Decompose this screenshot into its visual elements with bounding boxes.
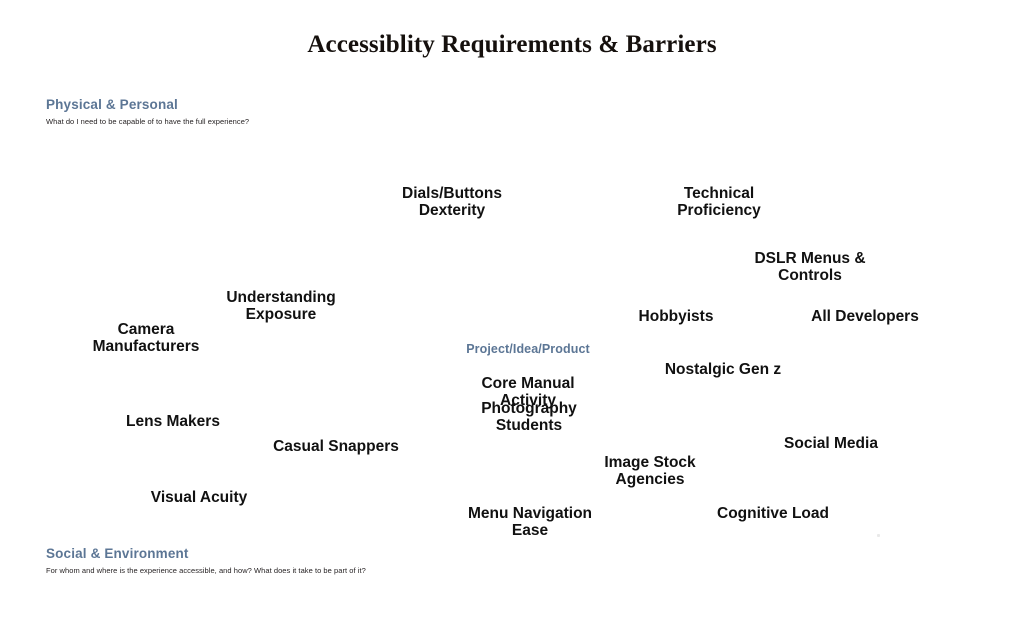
note-cognitive-load[interactable]: Cognitive Load xyxy=(717,506,829,523)
note-technical-proficiency[interactable]: Technical Proficiency xyxy=(677,186,761,219)
zone-title: Physical & Personal xyxy=(46,97,249,113)
core-node-kicker: Project/Idea/Product xyxy=(466,342,590,357)
note-visual-acuity[interactable]: Visual Acuity xyxy=(151,490,247,507)
note-dials-buttons-dexterity[interactable]: Dials/Buttons Dexterity xyxy=(402,186,502,219)
zone-social-environment: Social & Environment For whom and where … xyxy=(46,546,366,576)
note-dslr-menus-controls[interactable]: DSLR Menus & Controls xyxy=(754,251,865,284)
note-menu-navigation-ease[interactable]: Menu Navigation Ease xyxy=(468,506,592,539)
note-lens-makers[interactable]: Lens Makers xyxy=(126,414,220,431)
note-camera-manufacturers[interactable]: Camera Manufacturers xyxy=(93,322,200,355)
note-hobbyists[interactable]: Hobbyists xyxy=(639,309,714,326)
stray-mark xyxy=(877,534,880,537)
note-photography-students[interactable]: Photography Students xyxy=(481,401,577,434)
note-understanding-exposure[interactable]: Understanding Exposure xyxy=(226,290,335,323)
whiteboard-canvas: Accessiblity Requirements & Barriers Phy… xyxy=(0,0,1024,632)
note-image-stock-agencies[interactable]: Image Stock Agencies xyxy=(604,455,695,488)
page-title: Accessiblity Requirements & Barriers xyxy=(0,31,1024,59)
note-social-media[interactable]: Social Media xyxy=(784,436,878,453)
zone-subtitle: What do I need to be capable of to have … xyxy=(46,116,249,127)
zone-physical-personal: Physical & Personal What do I need to be… xyxy=(46,97,249,127)
note-nostalgic-gen-z[interactable]: Nostalgic Gen z xyxy=(665,362,781,379)
zone-title: Social & Environment xyxy=(46,546,366,562)
note-casual-snappers[interactable]: Casual Snappers xyxy=(273,439,399,456)
note-all-developers[interactable]: All Developers xyxy=(811,309,919,326)
zone-subtitle: For whom and where is the experience acc… xyxy=(46,565,366,576)
